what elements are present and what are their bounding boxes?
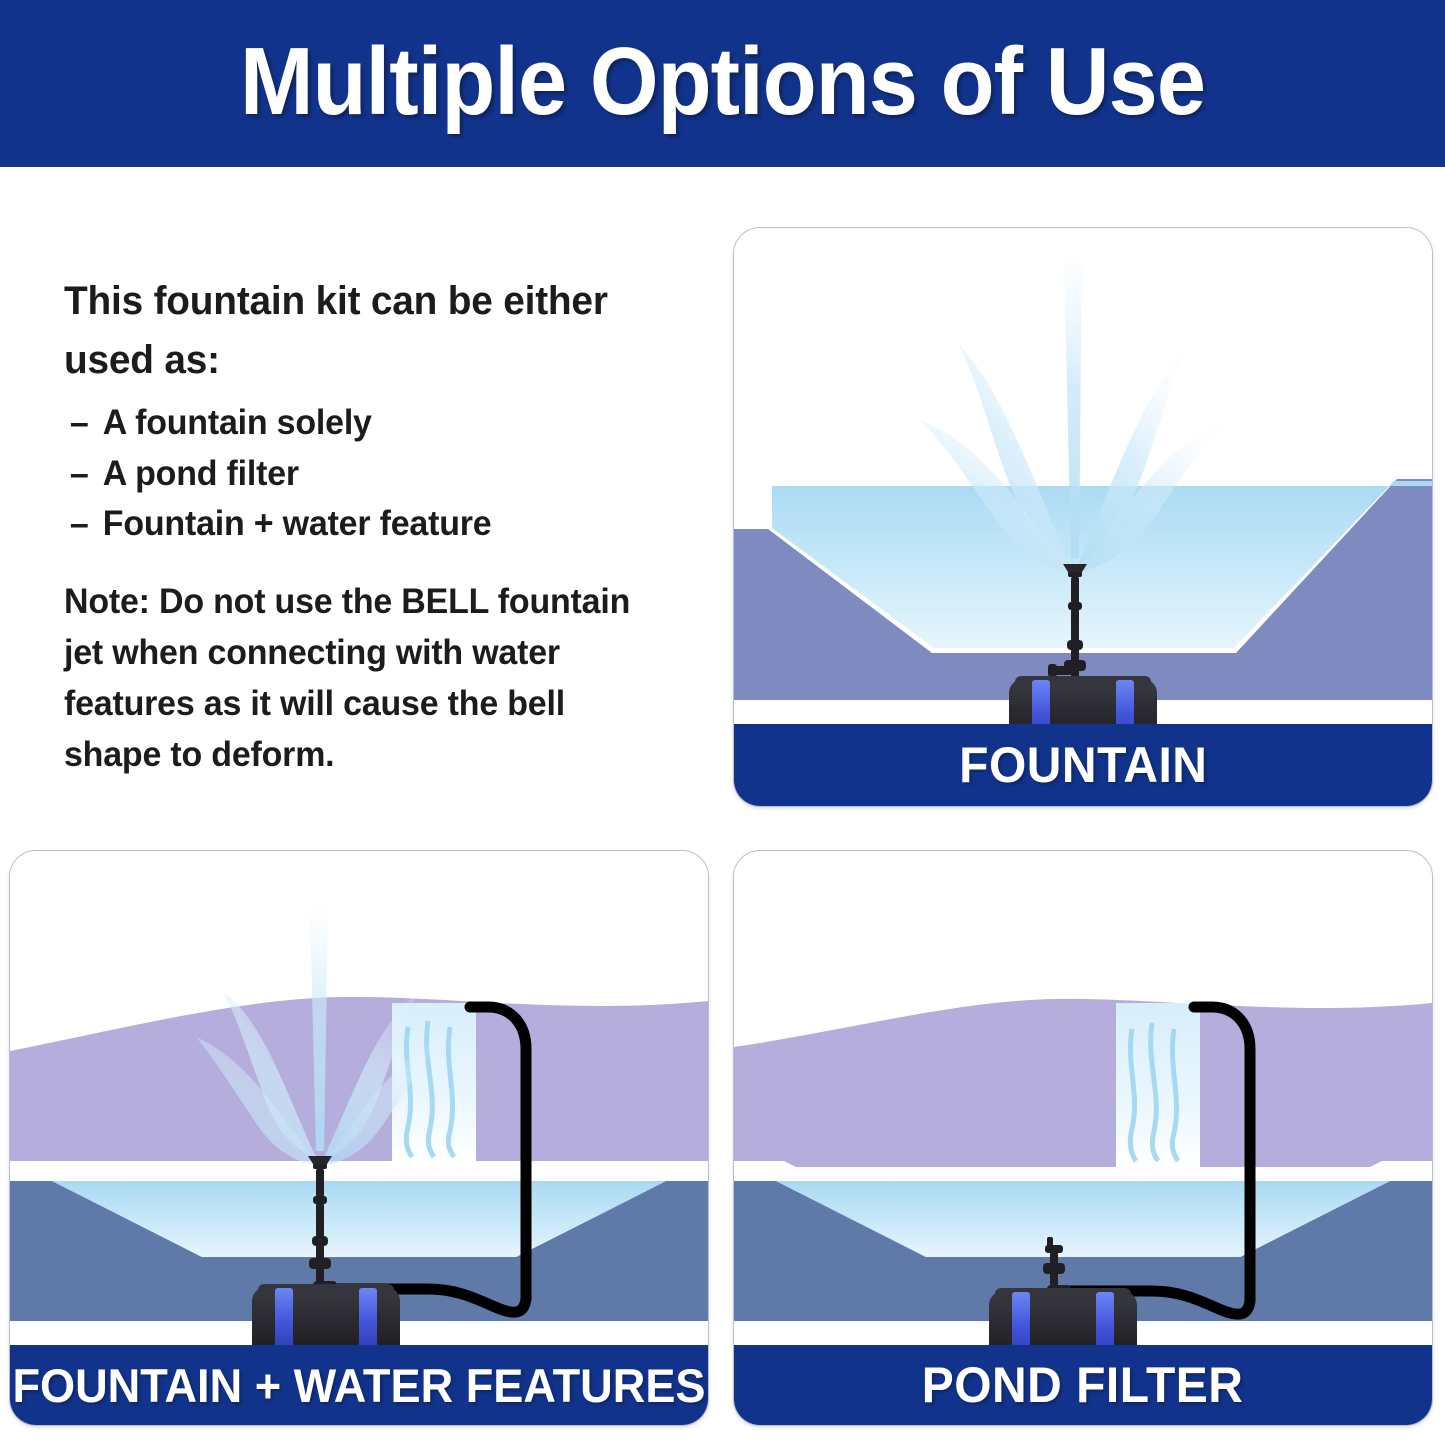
bullet-dash-icon: – xyxy=(70,449,103,499)
pump-slot-left xyxy=(1032,680,1050,724)
panel-fountain: FOUNTAIN xyxy=(734,228,1432,806)
pond-filter-illustration xyxy=(734,851,1432,1345)
panel-pond-filter: POND FILTER xyxy=(734,851,1432,1425)
list-item-label: Fountain + water feature xyxy=(103,499,492,549)
pump-slot-left xyxy=(1012,1292,1030,1345)
panel-label-text: FOUNTAIN xyxy=(959,740,1207,790)
panel-label-pond-filter: POND FILTER xyxy=(734,1345,1432,1425)
note-paragraph: Note: Do not use the BELL fountain jet w… xyxy=(64,576,646,780)
pump-slot-right xyxy=(359,1288,377,1345)
panel-label-fountain-water-features: FOUNTAIN + WATER FEATURES xyxy=(10,1345,708,1425)
fountain-scene-svg xyxy=(734,228,1432,724)
list-item: – A pond filter xyxy=(64,449,665,499)
list-item: – Fountain + water feature xyxy=(64,499,665,549)
pump-unit xyxy=(989,1288,1137,1345)
bullet-dash-icon: – xyxy=(70,499,103,549)
fountain-water-features-illustration xyxy=(10,851,708,1345)
list-item-label: A fountain solely xyxy=(103,398,372,448)
list-item-label: A pond filter xyxy=(103,449,299,499)
fwf-scene-svg xyxy=(10,851,708,1345)
pump-slot-right xyxy=(1116,680,1134,724)
fountain-illustration xyxy=(734,228,1432,724)
usage-bullet-list: – A fountain solely – A pond filter – Fo… xyxy=(64,398,684,549)
list-item: – A fountain solely xyxy=(64,398,665,448)
bullet-dash-icon: – xyxy=(70,398,103,448)
waterfall xyxy=(1116,1003,1200,1167)
pump-slot-left xyxy=(275,1288,293,1345)
panel-label-fountain: FOUNTAIN xyxy=(734,724,1432,806)
pond-scene-svg xyxy=(734,851,1432,1345)
panel-label-text: POND FILTER xyxy=(922,1360,1244,1410)
pump-unit xyxy=(1009,676,1157,724)
panel-label-text: FOUNTAIN + WATER FEATURES xyxy=(12,1362,705,1409)
header-bar: Multiple Options of Use xyxy=(0,0,1445,167)
panel-fountain-water-features: FOUNTAIN + WATER FEATURES xyxy=(10,851,708,1425)
lead-paragraph: This fountain kit can be either used as: xyxy=(64,272,665,390)
pump-slot-right xyxy=(1096,1292,1114,1345)
description-column: This fountain kit can be either used as:… xyxy=(64,272,684,780)
pump-unit xyxy=(252,1284,400,1345)
page-title: Multiple Options of Use xyxy=(240,34,1205,130)
